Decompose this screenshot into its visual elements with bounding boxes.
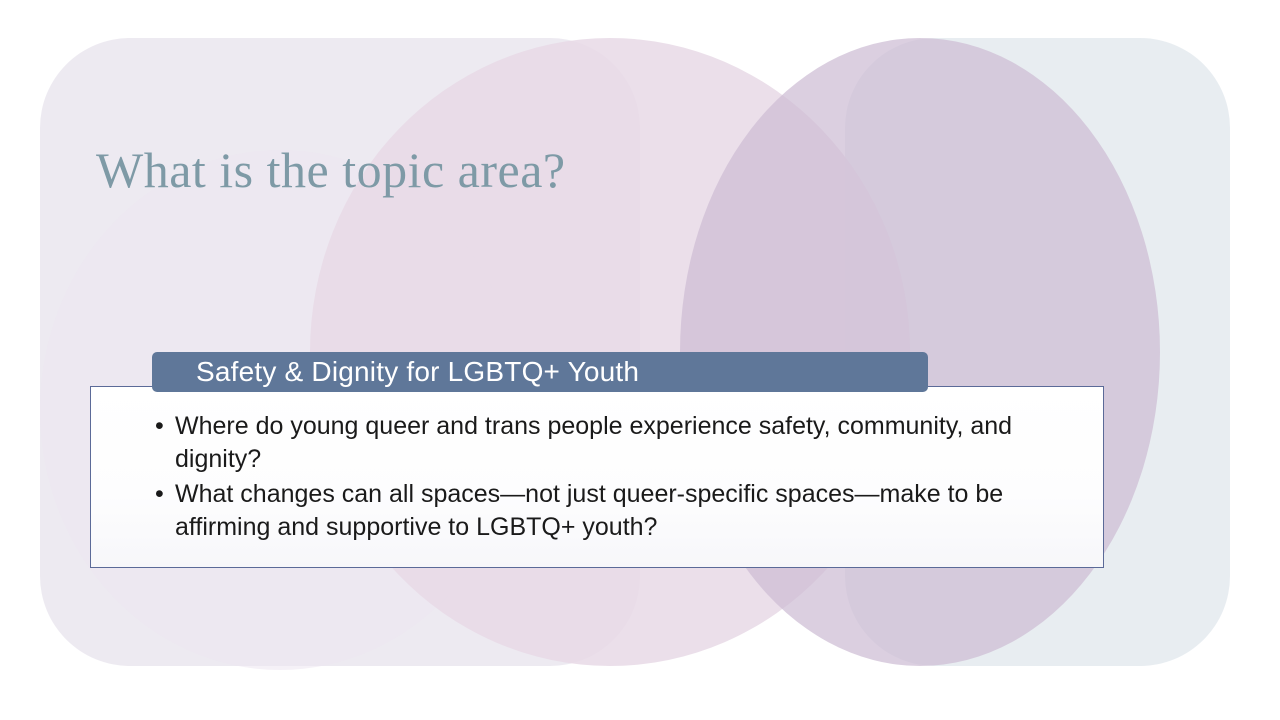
slide-canvas: What is the topic area? Safety & Dignity… (0, 0, 1280, 720)
page-title: What is the topic area? (96, 143, 566, 198)
section-banner: Safety & Dignity for LGBTQ+ Youth (152, 352, 928, 392)
bullet-list: • Where do young queer and trans people … (90, 392, 1104, 546)
list-item-text: Where do young queer and trans people ex… (175, 412, 1012, 473)
list-item: • Where do young queer and trans people … (155, 410, 1064, 476)
bullet-marker-icon: • (155, 410, 164, 443)
list-item: • What changes can all spaces—not just q… (155, 478, 1064, 544)
list-item-text: What changes can all spaces—not just que… (175, 480, 1003, 541)
bullet-marker-icon: • (155, 478, 164, 511)
